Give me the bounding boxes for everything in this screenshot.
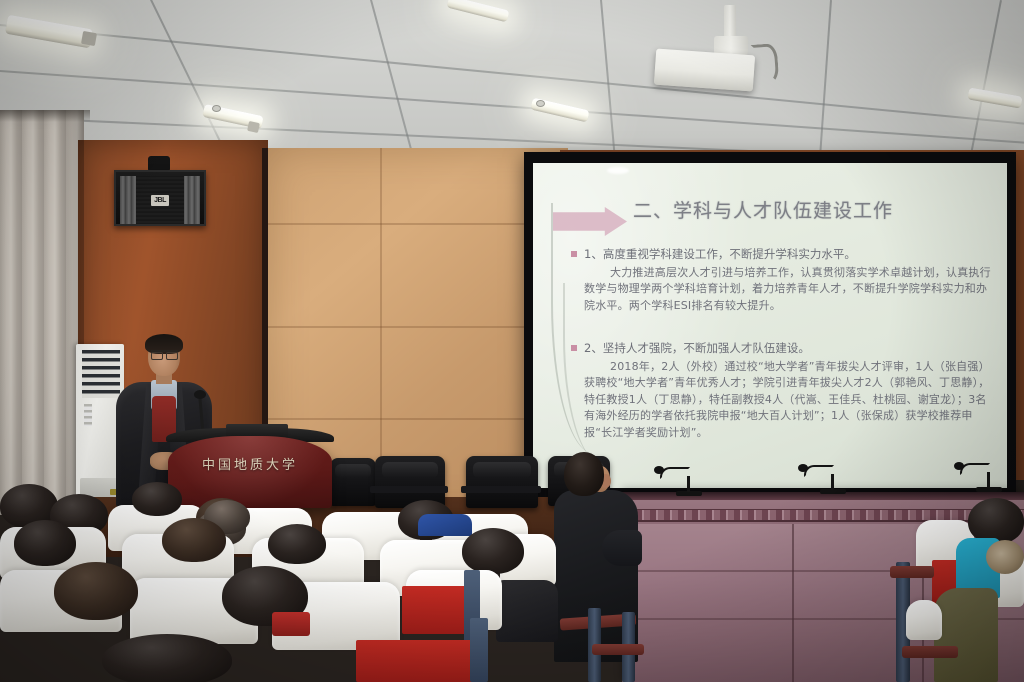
stage-chair-3[interactable] — [466, 456, 538, 508]
wall-speaker: JBL — [114, 170, 206, 226]
audience-head-m2 — [162, 518, 226, 562]
slide-title: 二、学科与人才队伍建设工作 — [633, 200, 993, 224]
glasses-icon — [151, 350, 178, 357]
audience-fur-collar — [986, 540, 1024, 574]
seat-cushion-red-1[interactable] — [402, 586, 468, 634]
seat-armrail-2 — [592, 644, 644, 655]
table-microphone-2[interactable] — [820, 460, 850, 494]
slide-arrow-decoration — [553, 207, 627, 236]
podium-microphone-head — [194, 390, 206, 399]
audience-head-m3 — [268, 524, 326, 564]
table-microphone-1[interactable] — [676, 462, 706, 496]
curtain-rod-shadow — [0, 110, 90, 122]
table-microphone-3[interactable] — [976, 458, 1006, 492]
audience-bag-dark — [496, 580, 558, 642]
smoke-detector-1 — [212, 105, 221, 112]
audience-head-f3 — [102, 634, 232, 682]
projection-screen: 二、学科与人才队伍建设工作 1、高度重视学科建设工作，不断提升学科实力水平。 大… — [533, 163, 1007, 488]
seat-armrail-right-2 — [902, 646, 958, 658]
audience-bag-blue — [418, 514, 472, 536]
window-curtain — [0, 110, 84, 515]
square-bullet-icon — [571, 345, 577, 351]
seat-frame-blue-2 — [470, 618, 488, 682]
ac-control-panel[interactable] — [84, 404, 92, 426]
audience-head-m4 — [462, 528, 524, 574]
projector-mount-pole — [724, 5, 736, 39]
ceiling-projector — [654, 49, 755, 92]
bullet-2-heading: 2、坚持人才强院，不断加强人才队伍建设。 — [584, 341, 810, 357]
audience-head-f1 — [54, 562, 138, 620]
audience-olive-jacket — [934, 588, 998, 682]
seat-cushion-red-2[interactable] — [356, 640, 476, 682]
bullet-1-body: 大力推进高层次人才引进与培养工作，认真贯彻落实学术卓越计划，认真执行数学与物理学… — [571, 265, 991, 315]
stage-chair-1[interactable] — [330, 458, 376, 506]
podium: 中国地质大学 — [168, 436, 332, 508]
audience-head-b6 — [132, 482, 182, 516]
bullet-2-body: 2018年，2人（外校）通过校“地大学者”青年拔尖人才评审，1人（张自强）获聘校… — [571, 359, 991, 442]
seat-right-3[interactable] — [906, 600, 942, 640]
slide-bullet-1: 1、高度重视学科建设工作，不断提升学科实力水平。 大力推进高层次人才引进与培养工… — [571, 247, 991, 314]
audience-head-m1 — [14, 520, 76, 566]
seat-armrail-right-1 — [890, 566, 934, 578]
speaker-brand-label: JBL — [151, 195, 169, 206]
podium-institution-name: 中国地质大学 — [168, 454, 332, 473]
square-bullet-icon — [571, 251, 577, 257]
suit-man-head — [564, 452, 604, 496]
audience-red-scarf — [272, 612, 310, 636]
smoke-detector-2 — [536, 100, 545, 107]
slide-bullet-2: 2、坚持人才强院，不断加强人才队伍建设。 2018年，2人（外校）通过校“地大学… — [571, 341, 991, 441]
bullet-1-heading: 1、高度重视学科建设工作，不断提升学科实力水平。 — [584, 247, 856, 263]
conference-hall-photo: JBL 二、学科与人才队伍建设工作 1、高度重视学科建设工作，不断提升学科实力水… — [0, 0, 1024, 682]
suit-arm — [602, 530, 642, 566]
projector-cable — [751, 43, 780, 85]
presentation-slide: 二、学科与人才队伍建设工作 1、高度重视学科建设工作，不断提升学科实力水平。 大… — [533, 163, 1007, 488]
